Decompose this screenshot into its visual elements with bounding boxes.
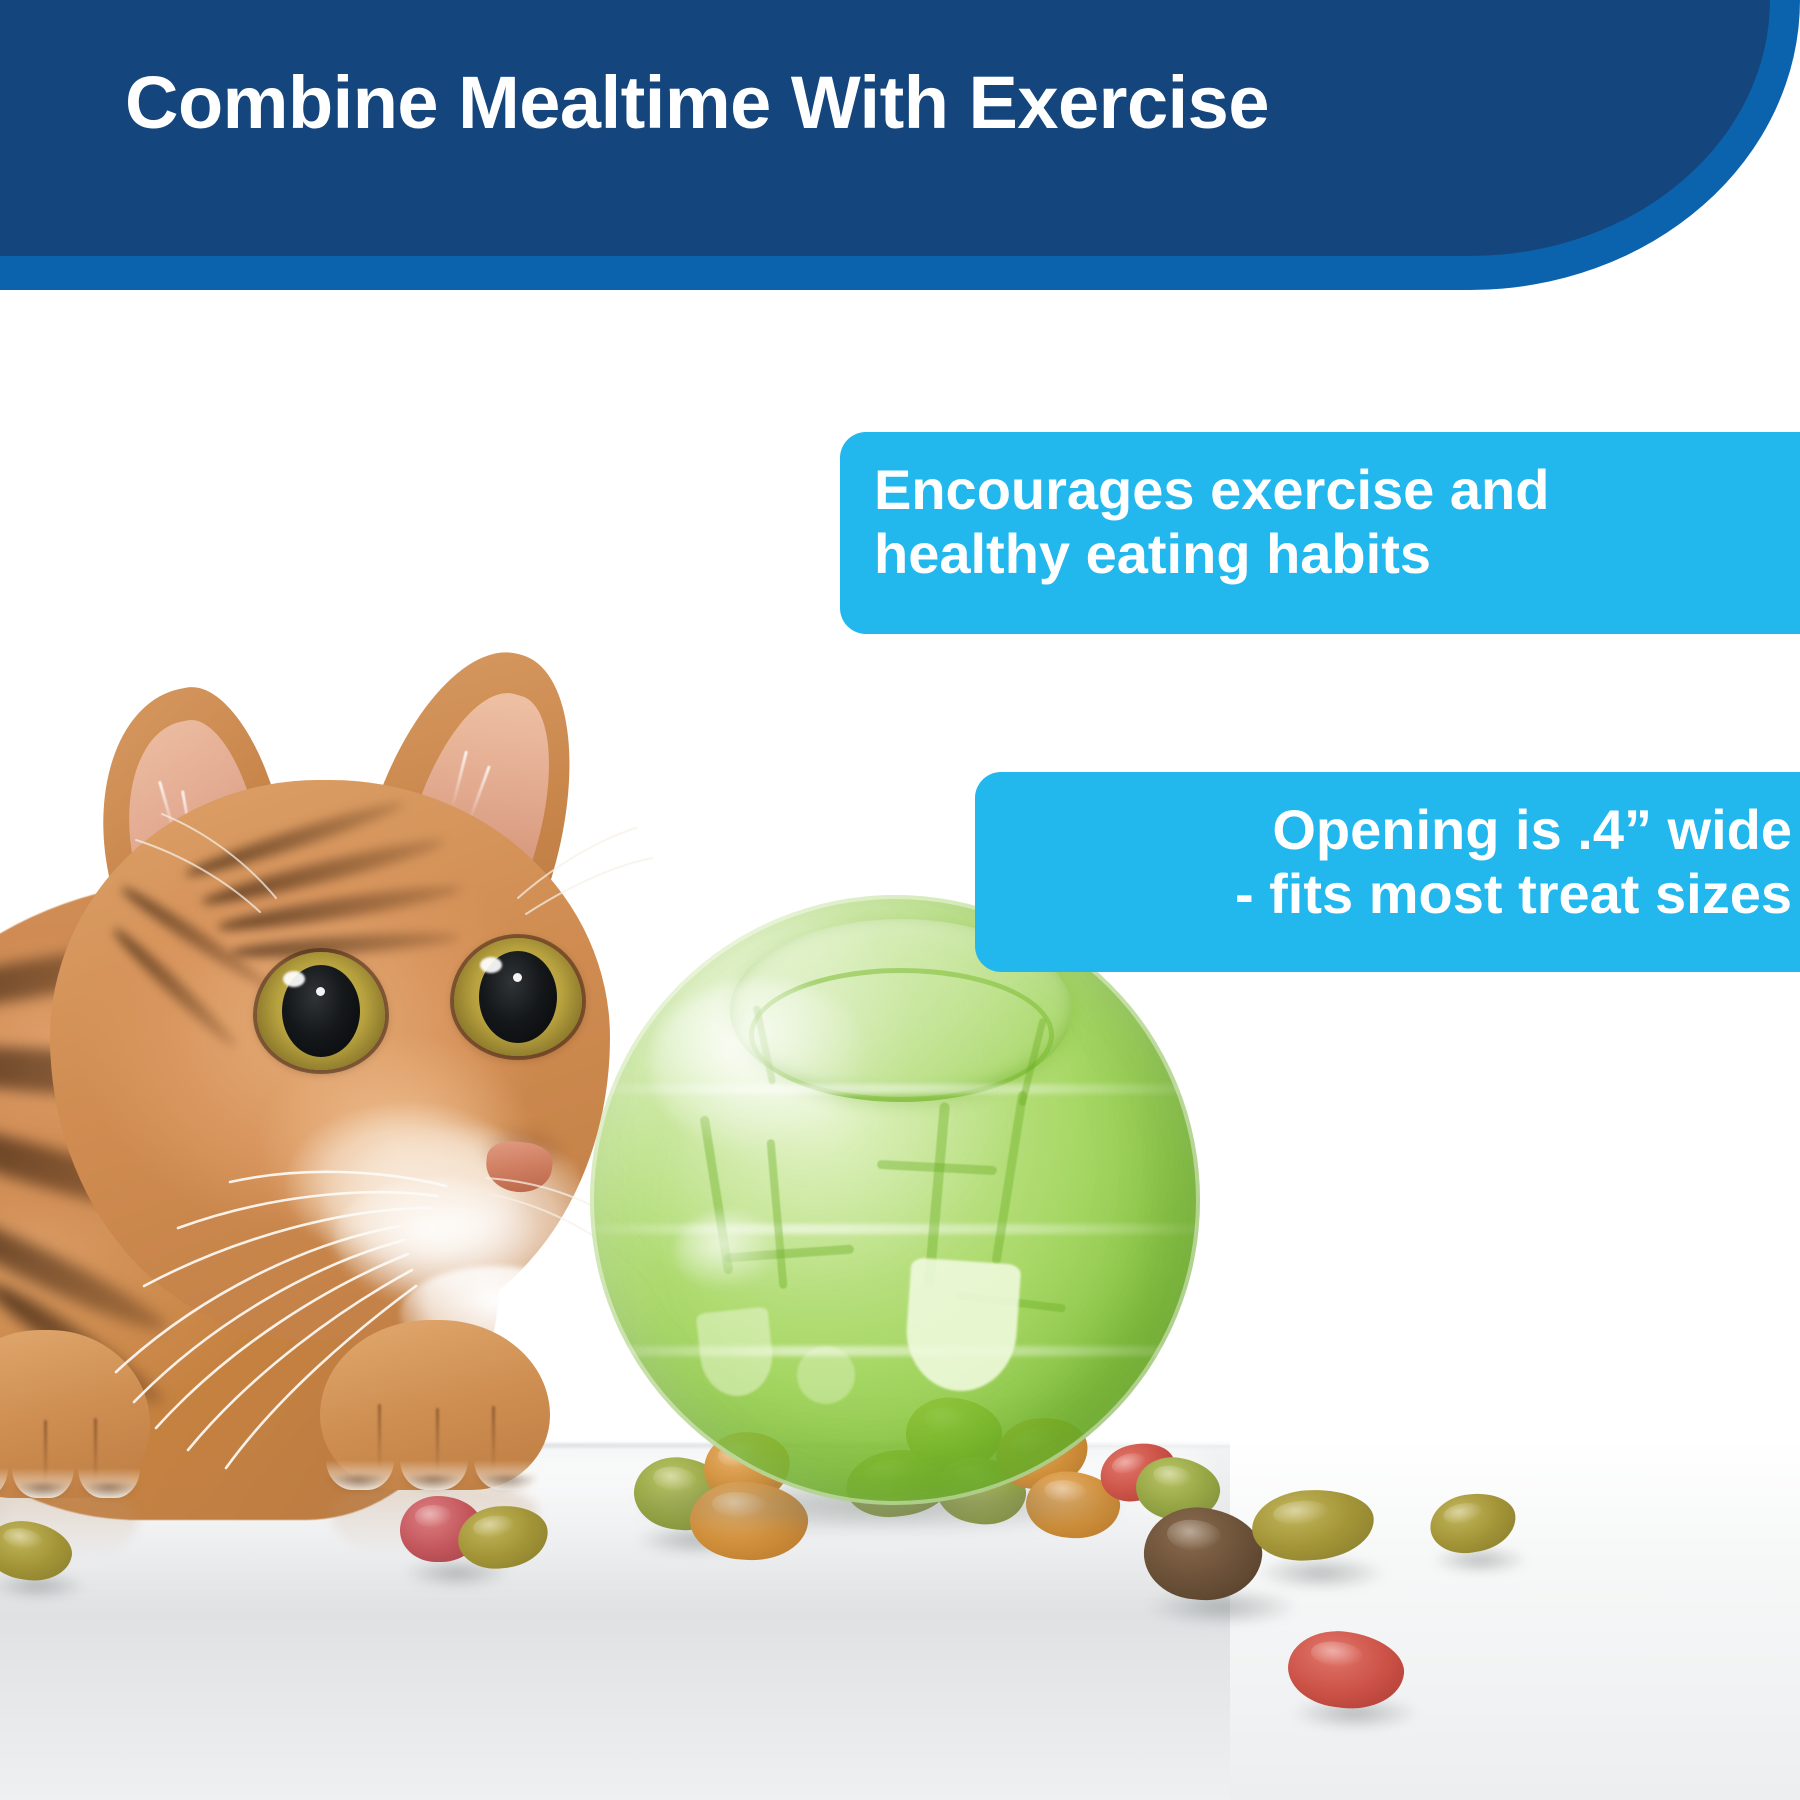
cat-right-eye xyxy=(454,938,582,1056)
callout-1-line-1: Encourages exercise and xyxy=(874,458,1800,522)
callout-2-line-1: Opening is .4” wide xyxy=(1009,798,1792,862)
callout-1-line-2: healthy eating habits xyxy=(874,522,1800,586)
page-title: Combine Mealtime With Exercise xyxy=(125,64,1625,142)
cat-right-paw xyxy=(320,1320,550,1490)
header-banner: Combine Mealtime With Exercise xyxy=(0,0,1800,300)
cat-eye-glint xyxy=(480,957,502,973)
callout-2-line-2: - fits most treat sizes xyxy=(1009,862,1792,926)
cat-left-eye xyxy=(257,952,385,1070)
callout-opening-size: Opening is .4” wide - fits most treat si… xyxy=(975,772,1800,972)
treat-ball-product xyxy=(590,895,1200,1505)
treat-ball-rim xyxy=(590,895,1200,1505)
callout-encourages-exercise: Encourages exercise and healthy eating h… xyxy=(840,432,1800,634)
product-feature-image: Encourages exercise and healthy eating h… xyxy=(0,0,1800,1800)
cat-eye-glint xyxy=(283,971,305,987)
